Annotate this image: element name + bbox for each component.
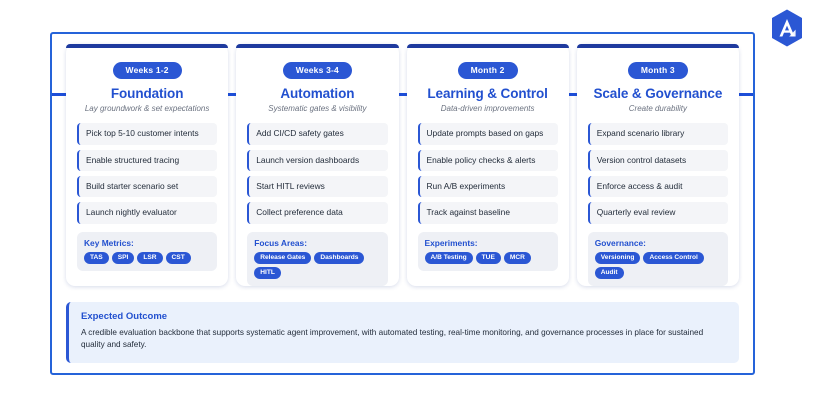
- tag-chip[interactable]: Release Gates: [254, 252, 311, 264]
- phase-pill-wrap: Month 2: [418, 60, 558, 79]
- tag-chip[interactable]: CST: [166, 252, 191, 264]
- tag-chip[interactable]: MCR: [504, 252, 531, 264]
- brand-logo-hexagon-icon: [767, 8, 807, 48]
- task-list: Pick top 5-10 customer intents Enable st…: [77, 123, 217, 223]
- phase-card-scale-governance[interactable]: Month 3 Scale & Governance Create durabi…: [577, 44, 739, 286]
- list-item[interactable]: Add CI/CD safety gates: [247, 123, 387, 144]
- phase-card-row: Weeks 1-2 Foundation Lay groundwork & se…: [52, 34, 753, 286]
- list-item[interactable]: Enable structured tracing: [77, 150, 217, 171]
- phase-pill-wrap: Weeks 1-2: [77, 60, 217, 79]
- focus-panel-title: Key Metrics:: [84, 238, 210, 248]
- phase-pill-wrap: Weeks 3-4: [247, 60, 387, 79]
- focus-panel: Key Metrics: TAS SPI LSR CST: [77, 232, 217, 271]
- tag-chip[interactable]: A/B Testing: [425, 252, 473, 264]
- tag-chip[interactable]: Dashboards: [314, 252, 364, 264]
- phase-subtitle: Data-driven improvements: [418, 104, 558, 115]
- focus-panel: Governance: Versioning Access Control Au…: [588, 232, 728, 286]
- tag-chip[interactable]: Access Control: [643, 252, 703, 264]
- task-list: Expand scenario library Version control …: [588, 123, 728, 223]
- phase-pill: Weeks 3-4: [283, 62, 352, 79]
- focus-panel-title: Experiments:: [425, 238, 551, 248]
- card-accent-bar: [577, 44, 739, 48]
- phase-pill: Month 3: [628, 62, 688, 79]
- tag-chip[interactable]: SPI: [112, 252, 135, 264]
- phase-card-automation[interactable]: Weeks 3-4 Automation Systematic gates & …: [236, 44, 398, 286]
- list-item[interactable]: Start HITL reviews: [247, 176, 387, 197]
- list-item[interactable]: Expand scenario library: [588, 123, 728, 144]
- list-item[interactable]: Track against baseline: [418, 202, 558, 223]
- list-item[interactable]: Update prompts based on gaps: [418, 123, 558, 144]
- tag-chip[interactable]: TUE: [476, 252, 501, 264]
- list-item[interactable]: Collect preference data: [247, 202, 387, 223]
- tag-group: Release Gates Dashboards HITL: [254, 252, 380, 279]
- task-list: Add CI/CD safety gates Launch version da…: [247, 123, 387, 223]
- task-list: Update prompts based on gaps Enable poli…: [418, 123, 558, 223]
- focus-panel-title: Governance:: [595, 238, 721, 248]
- tag-group: Versioning Access Control Audit: [595, 252, 721, 279]
- expected-outcome-title: Expected Outcome: [81, 311, 727, 322]
- brand-logo: [767, 8, 807, 48]
- list-item[interactable]: Launch nightly evaluator: [77, 202, 217, 223]
- phase-card-foundation[interactable]: Weeks 1-2 Foundation Lay groundwork & se…: [66, 44, 228, 286]
- focus-panel-title: Focus Areas:: [254, 238, 380, 248]
- list-item[interactable]: Pick top 5-10 customer intents: [77, 123, 217, 144]
- list-item[interactable]: Build starter scenario set: [77, 176, 217, 197]
- list-item[interactable]: Launch version dashboards: [247, 150, 387, 171]
- list-item[interactable]: Quarterly eval review: [588, 202, 728, 223]
- card-accent-bar: [236, 44, 398, 48]
- phase-subtitle: Systematic gates & visibility: [247, 104, 387, 115]
- phase-subtitle: Lay groundwork & set expectations: [77, 104, 217, 115]
- tag-chip[interactable]: LSR: [137, 252, 162, 264]
- phase-title: Automation: [247, 86, 387, 101]
- phase-title: Scale & Governance: [588, 86, 728, 101]
- phase-pill: Weeks 1-2: [113, 62, 182, 79]
- phase-subtitle: Create durability: [588, 104, 728, 115]
- tag-chip[interactable]: Versioning: [595, 252, 641, 264]
- tag-group: A/B Testing TUE MCR: [425, 252, 551, 264]
- list-item[interactable]: Run A/B experiments: [418, 176, 558, 197]
- list-item[interactable]: Version control datasets: [588, 150, 728, 171]
- tag-chip[interactable]: TAS: [84, 252, 109, 264]
- list-item[interactable]: Enforce access & audit: [588, 176, 728, 197]
- card-accent-bar: [66, 44, 228, 48]
- tag-chip[interactable]: Audit: [595, 267, 624, 279]
- focus-panel: Focus Areas: Release Gates Dashboards HI…: [247, 232, 387, 286]
- expected-outcome-text: A credible evaluation backbone that supp…: [81, 327, 727, 352]
- phase-card-learning-control[interactable]: Month 2 Learning & Control Data-driven i…: [407, 44, 569, 286]
- list-item[interactable]: Enable policy checks & alerts: [418, 150, 558, 171]
- card-accent-bar: [407, 44, 569, 48]
- roadmap-frame: Weeks 1-2 Foundation Lay groundwork & se…: [50, 32, 755, 375]
- phase-pill-wrap: Month 3: [588, 60, 728, 79]
- focus-panel: Experiments: A/B Testing TUE MCR: [418, 232, 558, 271]
- tag-chip[interactable]: HITL: [254, 267, 281, 279]
- phase-title: Foundation: [77, 86, 217, 101]
- phase-pill: Month 2: [458, 62, 518, 79]
- phase-title: Learning & Control: [418, 86, 558, 101]
- expected-outcome-panel: Expected Outcome A credible evaluation b…: [66, 302, 739, 363]
- tag-group: TAS SPI LSR CST: [84, 252, 210, 264]
